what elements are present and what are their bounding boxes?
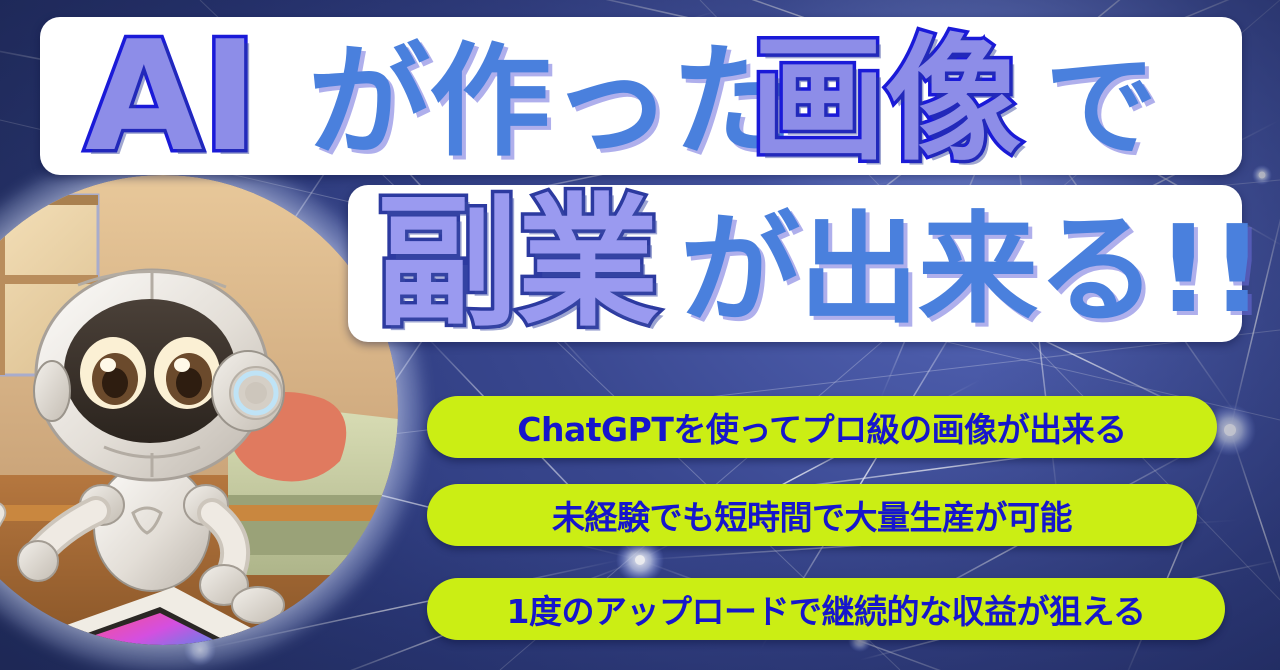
headline-line1: AI が作った 画像 で [40,17,1242,175]
headline-seg-de: で [1045,51,1156,163]
illustration-robot [0,175,398,645]
bullet-pill-beginner: 未経験でも短時間で大量生産が可能 [427,484,1197,546]
headline-seg-gadekiru: が出来る!! [680,211,1263,331]
bullet-text-beginner: 未経験でも短時間で大量生産が可能 [552,491,1072,539]
headline-seg-fukugyou: 副業 [376,193,658,335]
bullet-pill-chatgpt: ChatGPTを使ってプロ級の画像が出来る [427,396,1217,458]
headline-seg-ai: AI [85,21,257,173]
bullet-pill-income: 1度のアップロードで継続的な収益が狙える [427,578,1225,640]
headline-card-line2: 副業 が出来る!! [348,185,1242,342]
headline-seg-gazou: 画像 [750,33,1020,169]
headline-seg-gatsukutta: が作った [308,41,792,163]
headline-card-line1: AI が作った 画像 で [40,17,1242,175]
bullet-text-income: 1度のアップロードで継続的な収益が狙える [507,585,1146,633]
bullet-text-chatgpt: ChatGPTを使ってプロ級の画像が出来る [517,403,1126,451]
headline-line2: 副業 が出来る!! [348,185,1242,342]
